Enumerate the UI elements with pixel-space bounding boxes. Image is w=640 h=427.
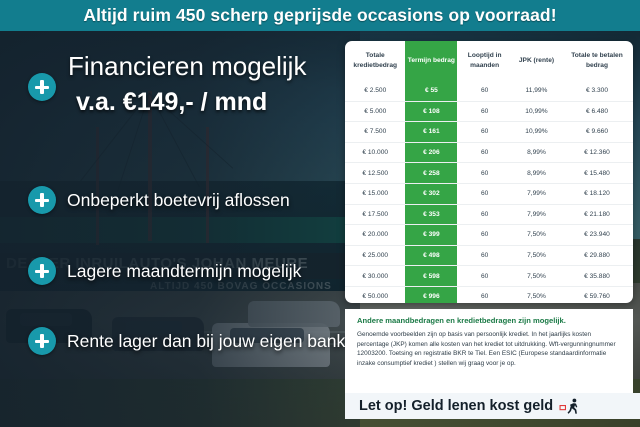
benefit-item-1: Onbeperkt boetevrij aflossen	[28, 186, 290, 214]
cell-jkp: 7,50%	[512, 286, 561, 303]
table-row: € 50.000€ 996607,50%€ 59.760	[345, 286, 633, 303]
table-row: € 30.000€ 598607,50%€ 35.880	[345, 266, 633, 287]
cell-looptijd: 60	[457, 183, 512, 204]
cell-looptijd: 60	[457, 245, 512, 266]
cell-termijn: € 206	[405, 142, 457, 163]
cell-krediet: € 25.000	[345, 245, 405, 266]
column-header-krediet: Totale kredietbedrag	[345, 41, 405, 81]
cell-looptijd: 60	[457, 204, 512, 225]
cell-jkp: 7,50%	[512, 266, 561, 287]
plus-icon	[28, 327, 56, 355]
cell-termijn: € 498	[405, 245, 457, 266]
page-title: Financieren mogelijk	[68, 53, 338, 80]
cell-krediet: € 2.500	[345, 81, 405, 101]
cell-krediet: € 10.000	[345, 142, 405, 163]
cell-krediet: € 12.500	[345, 163, 405, 184]
cell-termijn: € 399	[405, 225, 457, 246]
warning-text: Let op! Geld lenen kost geld	[359, 398, 553, 414]
cell-totaal: € 18.120	[561, 183, 633, 204]
table-row: € 12.500€ 258608,99%€ 15.480	[345, 163, 633, 184]
cell-looptijd: 60	[457, 101, 512, 122]
cell-krediet: € 50.000	[345, 286, 405, 303]
banner-headline: Altijd ruim 450 scherp geprijsde occasio…	[83, 5, 556, 26]
table-row: € 25.000€ 498607,50%€ 29.880	[345, 245, 633, 266]
cell-termijn: € 108	[405, 101, 457, 122]
cell-totaal: € 12.360	[561, 142, 633, 163]
cell-looptijd: 60	[457, 225, 512, 246]
advertisement-banner: DEALER INRUILAUTO'S JOHAN MEURE ALTIJD 4…	[0, 0, 640, 427]
cell-jkp: 7,50%	[512, 225, 561, 246]
cell-totaal: € 6.480	[561, 101, 633, 122]
cell-krediet: € 17.500	[345, 204, 405, 225]
cell-looptijd: 60	[457, 266, 512, 287]
cell-jkp: 10,99%	[512, 122, 561, 143]
cell-looptijd: 60	[457, 81, 512, 101]
plus-icon	[28, 257, 56, 285]
price-subheadline: v.a. €149,- / mnd	[76, 89, 341, 115]
table-row: € 17.500€ 353607,99%€ 21.180	[345, 204, 633, 225]
cell-looptijd: 60	[457, 122, 512, 143]
cell-totaal: € 21.180	[561, 204, 633, 225]
table-row: € 15.000€ 302607,99%€ 18.120	[345, 183, 633, 204]
financing-rate-table-card: Totale kredietbedrag Termijn bedrag Loop…	[345, 41, 633, 303]
cell-looptijd: 60	[457, 163, 512, 184]
cell-totaal: € 29.880	[561, 245, 633, 266]
table-header-row: Totale kredietbedrag Termijn bedrag Loop…	[345, 41, 633, 81]
column-header-totaal: Totale te betalen bedrag	[561, 41, 633, 81]
cell-looptijd: 60	[457, 142, 512, 163]
cell-termijn: € 161	[405, 122, 457, 143]
cell-krediet: € 20.000	[345, 225, 405, 246]
cell-totaal: € 15.480	[561, 163, 633, 184]
table-row: € 2.500€ 556011,99%€ 3.300	[345, 81, 633, 101]
cell-jkp: 7,99%	[512, 204, 561, 225]
benefit-label: Rente lager dan bij jouw eigen bank	[67, 331, 345, 352]
table-body: € 2.500€ 556011,99%€ 3.300€ 5.000€ 10860…	[345, 81, 633, 303]
cell-termijn: € 598	[405, 266, 457, 287]
left-content-column: Financieren mogelijk v.a. €149,- / mnd O…	[0, 31, 345, 427]
column-header-termijn: Termijn bedrag	[405, 41, 457, 81]
cell-termijn: € 302	[405, 183, 457, 204]
cell-krediet: € 5.000	[345, 101, 405, 122]
cell-termijn: € 55	[405, 81, 457, 101]
cell-totaal: € 23.940	[561, 225, 633, 246]
cell-jkp: 11,99%	[512, 81, 561, 101]
plus-icon	[28, 186, 56, 214]
cell-termijn: € 353	[405, 204, 457, 225]
table-row: € 10.000€ 206608,99%€ 12.360	[345, 142, 633, 163]
cell-jkp: 8,99%	[512, 163, 561, 184]
cell-jkp: 7,99%	[512, 183, 561, 204]
cell-totaal: € 35.880	[561, 266, 633, 287]
table-row: € 7.500€ 1616010,99%€ 9.660	[345, 122, 633, 143]
cell-totaal: € 9.660	[561, 122, 633, 143]
benefit-label: Lagere maandtermijn mogelijk	[67, 261, 301, 282]
cell-jkp: 7,50%	[512, 245, 561, 266]
credit-warning-strip: Let op! Geld lenen kost geld	[345, 393, 640, 419]
cell-krediet: € 7.500	[345, 122, 405, 143]
cell-totaal: € 59.760	[561, 286, 633, 303]
disclaimer-title: Andere maandbedragen en kredietbedragen …	[357, 316, 623, 325]
cell-jkp: 8,99%	[512, 142, 561, 163]
cell-termijn: € 996	[405, 286, 457, 303]
financing-rate-table: Totale kredietbedrag Termijn bedrag Loop…	[345, 41, 633, 303]
cell-looptijd: 60	[457, 286, 512, 303]
table-row: € 20.000€ 399607,50%€ 23.940	[345, 225, 633, 246]
benefit-item-3: Rente lager dan bij jouw eigen bank	[28, 327, 345, 355]
disclaimer-section: Andere maandbedragen en kredietbedragen …	[345, 309, 633, 393]
table-row: € 5.000€ 1086010,99%€ 6.480	[345, 101, 633, 122]
running-person-icon	[559, 398, 581, 415]
cell-totaal: € 3.300	[561, 81, 633, 101]
benefit-label: Onbeperkt boetevrij aflossen	[67, 190, 290, 211]
column-header-jkp: JPK (rente)	[512, 41, 561, 81]
cell-krediet: € 30.000	[345, 266, 405, 287]
top-banner: Altijd ruim 450 scherp geprijsde occasio…	[0, 0, 640, 31]
column-header-looptijd: Looptijd in maanden	[457, 41, 512, 81]
cell-krediet: € 15.000	[345, 183, 405, 204]
disclaimer-body: Genoemde voorbeelden zijn op basis van p…	[357, 330, 623, 369]
benefit-item-2: Lagere maandtermijn mogelijk	[28, 257, 301, 285]
cell-termijn: € 258	[405, 163, 457, 184]
cell-jkp: 10,99%	[512, 101, 561, 122]
plus-icon	[28, 73, 56, 101]
